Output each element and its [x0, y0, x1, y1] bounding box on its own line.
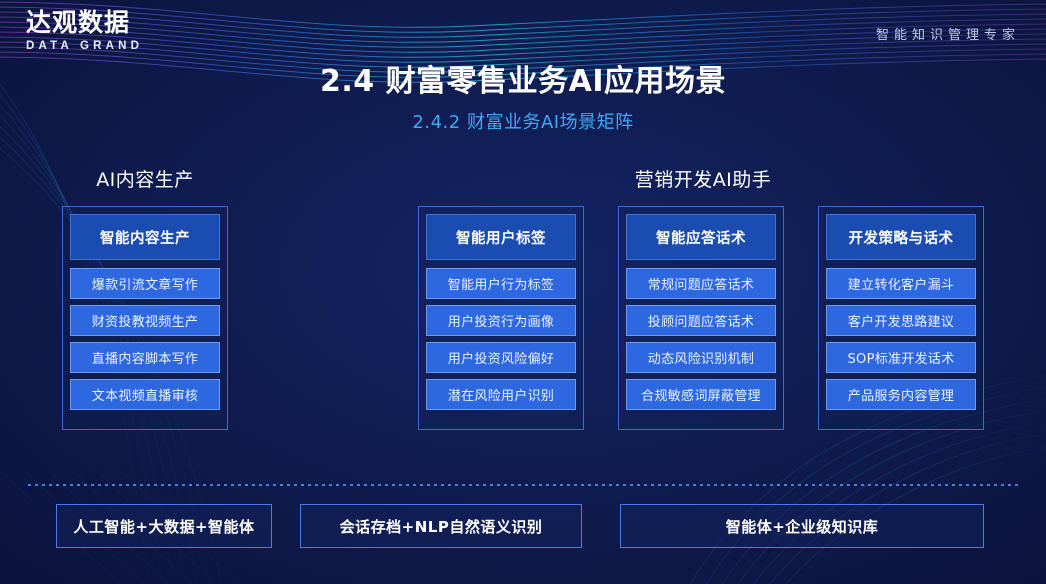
- slide-root: 达观数据 DATA GRAND 智能知识管理专家 2.4 财富零售业务AI应用场…: [0, 0, 1046, 584]
- column-item[interactable]: SOP标准开发话术: [826, 342, 976, 373]
- column-item[interactable]: 用户投资风险偏好: [426, 342, 576, 373]
- column-content-production[interactable]: 智能内容生产 爆款引流文章写作 财资投教视频生产 直播内容脚本写作 文本视频直播…: [62, 206, 228, 430]
- column-header[interactable]: 智能用户标签: [426, 214, 576, 260]
- column-response-scripts[interactable]: 智能应答话术 常规问题应答话术 投顾问题应答话术 动态风险识别机制 合规敏感词屏…: [618, 206, 784, 430]
- column-item[interactable]: 投顾问题应答话术: [626, 305, 776, 336]
- column-item[interactable]: 智能用户行为标签: [426, 268, 576, 299]
- column-header[interactable]: 智能内容生产: [70, 214, 220, 260]
- page-subtitle: 2.4.2 财富业务AI场景矩阵: [0, 108, 1046, 134]
- column-item[interactable]: 直播内容脚本写作: [70, 342, 220, 373]
- column-item[interactable]: 爆款引流文章写作: [70, 268, 220, 299]
- page-title: 2.4 财富零售业务AI应用场景: [0, 56, 1046, 100]
- column-item[interactable]: 建立转化客户漏斗: [826, 268, 976, 299]
- column-item[interactable]: 用户投资行为画像: [426, 305, 576, 336]
- column-header[interactable]: 开发策略与话术: [826, 214, 976, 260]
- footer-box-ai-bigdata-agent[interactable]: 人工智能+大数据+智能体: [56, 504, 272, 548]
- footer-box-agent-knowledgebase[interactable]: 智能体+企业级知识库: [620, 504, 984, 548]
- group-heading-marketing-assistant: 营销开发AI助手: [418, 165, 988, 192]
- dotted-divider: [28, 484, 1020, 486]
- column-item[interactable]: 潜在风险用户识别: [426, 379, 576, 410]
- logo-chinese: 达观数据: [26, 8, 143, 38]
- column-item[interactable]: 产品服务内容管理: [826, 379, 976, 410]
- column-development-strategy[interactable]: 开发策略与话术 建立转化客户漏斗 客户开发思路建议 SOP标准开发话术 产品服务…: [818, 206, 984, 430]
- column-item[interactable]: 常规问题应答话术: [626, 268, 776, 299]
- brand-tagline: 智能知识管理专家: [876, 24, 1020, 43]
- column-item[interactable]: 客户开发思路建议: [826, 305, 976, 336]
- column-item[interactable]: 动态风险识别机制: [626, 342, 776, 373]
- column-item[interactable]: 财资投教视频生产: [70, 305, 220, 336]
- column-user-tags[interactable]: 智能用户标签 智能用户行为标签 用户投资行为画像 用户投资风险偏好 潜在风险用户…: [418, 206, 584, 430]
- column-item[interactable]: 合规敏感词屏蔽管理: [626, 379, 776, 410]
- logo-english: DATA GRAND: [26, 39, 143, 54]
- column-item[interactable]: 文本视频直播审核: [70, 379, 220, 410]
- brand-logo: 达观数据 DATA GRAND: [26, 8, 143, 54]
- column-header[interactable]: 智能应答话术: [626, 214, 776, 260]
- group-heading-content-production: AI内容生产: [62, 165, 228, 192]
- footer-box-session-nlp[interactable]: 会话存档+NLP自然语义识别: [300, 504, 582, 548]
